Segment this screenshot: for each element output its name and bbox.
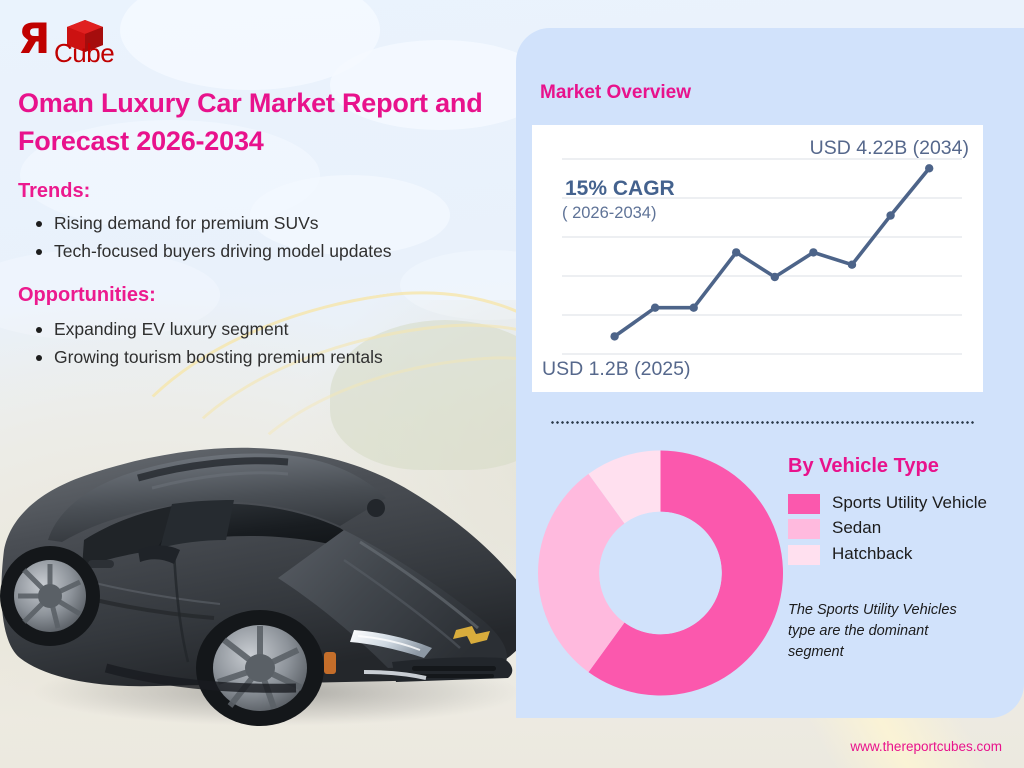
panel-heading: Market Overview <box>540 82 691 104</box>
donut-legend: Sports Utility Vehicle Sedan Hatchback <box>788 492 1003 568</box>
list-item: Growing tourism boosting premium rentals <box>30 344 383 372</box>
chart-point <box>809 248 817 256</box>
chart-point <box>651 304 659 312</box>
donut-heading: By Vehicle Type <box>788 455 939 478</box>
legend-label-sedan: Sedan <box>832 517 881 539</box>
opportunities-heading: Opportunities: <box>18 284 156 307</box>
chart-point <box>848 261 856 269</box>
legend-item-sedan[interactable]: Sedan <box>788 517 1003 539</box>
chart-point <box>925 164 933 172</box>
legend-item-hatchback[interactable]: Hatchback <box>788 543 1003 565</box>
chart-point <box>732 248 740 256</box>
vehicle-type-donut-chart <box>538 448 783 698</box>
chart-point <box>610 332 618 340</box>
logo-mark-letter: Я <box>18 18 50 60</box>
legend-label-hatchback: Hatchback <box>832 543 912 565</box>
legend-item-suv[interactable]: Sports Utility Vehicle <box>788 492 1003 514</box>
chart-point <box>690 304 698 312</box>
chart-point <box>886 211 894 219</box>
chart-cagr-label: 15% CAGR <box>565 177 675 201</box>
trends-list: Rising demand for premium SUVs Tech-focu… <box>30 210 392 265</box>
list-item: Expanding EV luxury segment <box>30 316 383 344</box>
logo-word: Cube <box>54 38 114 69</box>
chart-end-value-label: USD 4.22B (2034) <box>810 137 969 160</box>
section-divider <box>550 421 976 424</box>
chart-point <box>771 273 779 281</box>
market-growth-line-chart <box>532 125 983 392</box>
legend-swatch-suv <box>788 494 820 514</box>
chart-start-value-label: USD 1.2B (2025) <box>542 358 691 381</box>
website-url[interactable]: www.thereportcubes.com <box>850 739 1002 754</box>
donut-svg <box>538 448 783 698</box>
list-item: Tech-focused buyers driving model update… <box>30 238 392 266</box>
infographic-page: Я Cube Oman Luxury Car Market Report and… <box>0 0 1024 768</box>
legend-swatch-sedan <box>788 519 820 539</box>
legend-swatch-hatchback <box>788 545 820 565</box>
list-item: Rising demand for premium SUVs <box>30 210 392 238</box>
brand-logo[interactable]: Я Cube <box>18 20 198 76</box>
donut-note: The Sports Utility Vehicles type are the… <box>788 600 984 663</box>
page-title: Oman Luxury Car Market Report and Foreca… <box>18 84 498 161</box>
trends-heading: Trends: <box>18 180 90 203</box>
line-chart-card: USD 4.22B (2034) 15% CAGR ( 2026-2034) U… <box>532 125 983 392</box>
opportunities-list: Expanding EV luxury segment Growing tour… <box>30 316 383 371</box>
luxury-car-photo <box>0 400 548 730</box>
chart-cagr-period-label: ( 2026-2034) <box>562 204 656 223</box>
donut-hole <box>599 512 722 635</box>
legend-label-suv: Sports Utility Vehicle <box>832 492 987 514</box>
